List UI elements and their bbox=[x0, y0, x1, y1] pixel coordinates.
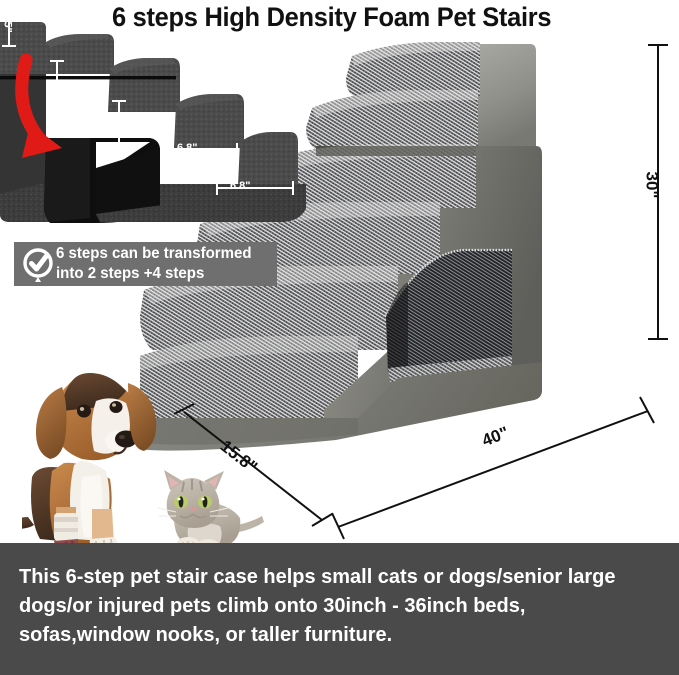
riser-edge-5 bbox=[316, 146, 476, 156]
dimension-height-label: 30" bbox=[641, 172, 661, 199]
product-infographic: 6 steps High Density Foam Pet Stairs bbox=[0, 0, 679, 675]
inset-run-1-label: 6.8" bbox=[177, 142, 198, 154]
caption-bar: This 6-step pet stair case helps small c… bbox=[0, 543, 679, 675]
caption-text: This 6-step pet stair case helps small c… bbox=[19, 562, 655, 649]
inset-step-2 bbox=[238, 132, 298, 186]
feature-badge-text: 6 steps can be transformed into 2 steps … bbox=[56, 244, 252, 284]
dimension-length-svg bbox=[330, 395, 660, 540]
feature-badge: 6 steps can be transformed into 2 steps … bbox=[14, 242, 277, 286]
inset-run-2-label: 6.8" bbox=[230, 180, 251, 192]
feature-badge-line-2: into 2 steps +4 steps bbox=[56, 264, 252, 284]
inset-rise-1-label: 5" bbox=[2, 21, 14, 32]
transformed-stairs-inset: 5" 5" 5" 6.8" 6.8" bbox=[0, 18, 312, 240]
check-circle-icon bbox=[18, 244, 58, 284]
feature-badge-line-1: 6 steps can be transformed bbox=[56, 244, 252, 264]
inset-rise-2-label: 5" bbox=[50, 79, 62, 90]
back-wall-upper bbox=[475, 44, 536, 150]
inset-stairs-svg bbox=[0, 18, 312, 240]
inset-rise-3-label: 5" bbox=[112, 118, 124, 129]
kitten bbox=[148, 470, 264, 550]
